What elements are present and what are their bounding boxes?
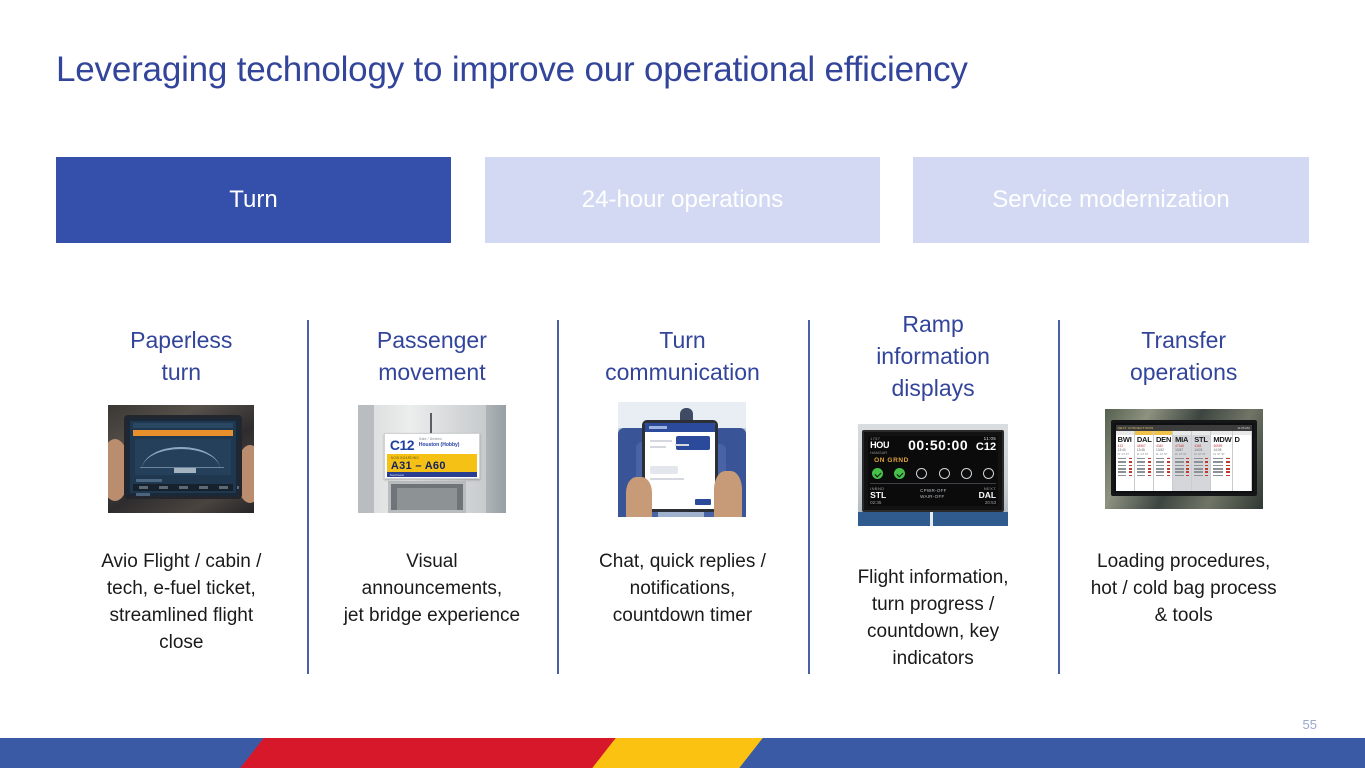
column-heading-transfer-operations: Transfer operations xyxy=(1130,324,1237,388)
connections-monitor-screen: NEXT CONNECTIONS 11:05 AM BWI 433 13:40 xyxy=(1116,425,1252,491)
progress-dot-complete xyxy=(894,468,905,479)
connection-row xyxy=(1137,474,1151,477)
chat-line xyxy=(650,478,684,480)
connection-column: BWI 433 13:40 FL GT ST xyxy=(1116,431,1135,491)
col-header-st: ST xyxy=(1164,453,1167,456)
column-transfer-operations: Transfer operations NEXT CONNECTIONS 11:… xyxy=(1058,312,1309,674)
connection-rows xyxy=(1211,456,1231,477)
ramp-gate-label: HANGAR xyxy=(870,450,889,455)
gate-sign-board: C12 Gate / Destino Houston (Hobby) NOW B… xyxy=(384,433,480,479)
tablet-device xyxy=(124,415,242,499)
progress-dot-pending xyxy=(983,468,994,479)
connection-station-code: MIA xyxy=(1173,435,1191,444)
hand-right xyxy=(714,471,742,517)
column-turn-communication: Turn communication xyxy=(557,312,808,674)
connection-column: DEN 4340 13:52 FL GT ST xyxy=(1154,431,1173,491)
connection-station-code: STL xyxy=(1192,435,1210,444)
col-header-st: ST xyxy=(1202,453,1205,456)
chat-line xyxy=(675,444,689,446)
ramp-countdown-timer: 00:50:00 xyxy=(908,437,968,453)
connection-rows xyxy=(1135,456,1153,477)
col-header-fl: FL xyxy=(1213,453,1216,456)
progress-dot-pending xyxy=(939,468,950,479)
connection-row xyxy=(1175,474,1189,477)
app-toolbar xyxy=(133,423,233,428)
page-number: 55 xyxy=(1303,717,1317,732)
ramp-time-gate-block: 11:05 C12 xyxy=(976,436,996,453)
connections-columns: BWI 433 13:40 FL GT ST xyxy=(1116,431,1252,491)
tablet-chat-cabin-photo xyxy=(618,402,746,517)
stripe-segment-blue-right xyxy=(739,738,1365,768)
col-header-gt: GT xyxy=(1121,453,1124,456)
connection-rows xyxy=(1173,456,1191,477)
connection-station-code: DEN xyxy=(1154,435,1172,444)
ramp-gate-number: C12 xyxy=(976,441,996,453)
connections-monitor: NEXT CONNECTIONS 11:05 AM BWI 433 13:40 xyxy=(1111,420,1257,496)
ramp-origin-block: 1757 HOU HANGAR xyxy=(870,436,889,455)
chart-value-label xyxy=(174,468,196,473)
tablet-paperless-turn-photo xyxy=(108,405,254,513)
ramp-monitor: 1757 HOU HANGAR 00:50:00 11:05 C12 ON GR… xyxy=(862,430,1004,512)
transfer-connections-board-photo: NEXT CONNECTIONS 11:05 AM BWI 433 13:40 xyxy=(1105,409,1263,509)
tablet-tabbar xyxy=(133,484,233,491)
progress-dot-pending xyxy=(961,468,972,479)
tablet-device xyxy=(642,420,718,512)
tab-service-modernization[interactable]: Service modernization xyxy=(913,157,1309,243)
ramp-monitor-screen: 1757 HOU HANGAR 00:50:00 11:05 C12 ON GR… xyxy=(868,436,998,506)
connection-row xyxy=(1213,474,1229,477)
stripe-segment-red xyxy=(240,738,623,768)
col-header-st: ST xyxy=(1222,453,1225,456)
column-heading-turn-communication: Turn communication xyxy=(605,324,760,388)
thumb-wrap-passenger-movement: C12 Gate / Destino Houston (Hobby) NOW B… xyxy=(358,394,506,524)
app-orange-banner xyxy=(133,430,233,436)
gate-destination-label: Gate / Destino xyxy=(419,437,477,441)
hand-left xyxy=(626,477,652,517)
chat-app-navbar xyxy=(645,423,715,432)
connections-header-time: 11:05 AM xyxy=(1237,426,1249,430)
page-title: Leveraging technology to improve our ope… xyxy=(56,50,968,90)
progress-dot-complete xyxy=(872,468,883,479)
jet-bridge-door xyxy=(388,481,466,513)
column-caption-turn-communication: Chat, quick replies / notifications, cou… xyxy=(593,548,772,629)
ramp-indicator-air: WAIR-OFF xyxy=(920,494,947,500)
thumb-wrap-turn-communication xyxy=(618,394,746,524)
ramp-mid-indicators: CPWR-OFF WAIR-OFF xyxy=(920,488,947,500)
col-header-fl: FL xyxy=(1118,453,1121,456)
ramp-next-time: 20:53 xyxy=(979,500,996,505)
slide-root: Leveraging technology to improve our ope… xyxy=(0,0,1365,768)
column-caption-ramp-information-displays: Flight information, turn progress / coun… xyxy=(852,564,1015,672)
chat-send-button[interactable] xyxy=(695,499,711,505)
connection-station-code: BWI xyxy=(1116,435,1134,444)
thumb-wrap-ramp-information-displays: 1757 HOU HANGAR 00:50:00 11:05 C12 ON GR… xyxy=(858,410,1008,540)
col-header-gt: GT xyxy=(1198,453,1201,456)
ramp-status-badge: ON GRND xyxy=(874,457,909,464)
thumb-wrap-transfer-operations: NEXT CONNECTIONS 11:05 AM BWI 433 13:40 xyxy=(1105,394,1263,524)
stripe-segment-blue-left xyxy=(0,738,272,768)
brand-stripe xyxy=(0,738,1365,768)
gate-destination: Gate / Destino Houston (Hobby) xyxy=(419,437,477,448)
chat-line xyxy=(650,440,672,442)
ramp-inbound-time: 02:35 xyxy=(870,500,886,505)
ramp-inbound-block: INBND STL 02:35 xyxy=(870,486,886,505)
ramp-next-block: NEXT DAL 20:53 xyxy=(979,486,996,505)
wall-pillar-left xyxy=(358,405,374,513)
connection-rows xyxy=(1116,456,1134,477)
column-paperless-turn: Paperless turn xyxy=(56,312,307,674)
ramp-origin-code: HOU xyxy=(870,441,889,450)
col-header-gt: GT xyxy=(1141,453,1144,456)
thumb-wrap-paperless-turn xyxy=(108,394,254,524)
tab-turn[interactable]: Turn xyxy=(56,157,451,243)
column-caption-transfer-operations: Loading procedures, hot / cold bag proce… xyxy=(1085,548,1283,629)
column-heading-passenger-movement: Passenger movement xyxy=(377,324,487,388)
detail-line xyxy=(136,479,162,482)
col-header-fl: FL xyxy=(1137,453,1140,456)
column-passenger-movement: Passenger movement C12 Gate / Destino Ho… xyxy=(307,312,558,674)
tablet-screen xyxy=(130,421,236,493)
gate-destination-name: Houston (Hobby) xyxy=(419,442,477,448)
ramp-progress-dots xyxy=(872,467,994,479)
tab-24-hour-operations-label: 24-hour operations xyxy=(582,186,783,214)
tab-turn-label: Turn xyxy=(229,186,277,214)
connection-station-code: D xyxy=(1233,435,1251,444)
gate-sign-photo: C12 Gate / Destino Houston (Hobby) NOW B… xyxy=(358,405,506,513)
detail-line xyxy=(136,493,150,496)
connection-rows xyxy=(1192,456,1210,477)
connection-station-code: DAL xyxy=(1135,435,1153,444)
tab-bar: Turn 24-hour operations Service moderniz… xyxy=(56,157,1309,243)
connection-column: MDW 46959 14:05 FL GT ST xyxy=(1211,431,1232,491)
connection-rows xyxy=(1154,456,1172,477)
col-header-gt: GT xyxy=(1179,453,1182,456)
ramp-next-station: DAL xyxy=(979,491,996,500)
connection-column: DAL 44967 13:45 FL GT ST xyxy=(1135,431,1154,491)
connection-column: MIA 47346 13:57 FL GT ST xyxy=(1173,431,1192,491)
col-header-gt: GT xyxy=(1160,453,1163,456)
sign-mount-rod xyxy=(430,413,432,433)
chat-app-body xyxy=(645,432,715,509)
col-header-fl: FL xyxy=(1175,453,1178,456)
seat-range: A31 – A60 xyxy=(391,460,446,472)
col-header-st: ST xyxy=(1145,453,1148,456)
wall-pillar-right xyxy=(486,405,506,513)
connection-row xyxy=(1118,474,1132,477)
column-caption-paperless-turn: Avio Flight / cabin / tech, e-fuel ticke… xyxy=(95,548,267,656)
connections-header-title: NEXT CONNECTIONS xyxy=(1118,426,1154,430)
column-heading-paperless-turn: Paperless turn xyxy=(130,324,232,388)
column-ramp-information-displays: Ramp information displays 1757 HOU HANGA… xyxy=(808,312,1059,674)
connection-column: STL 4348 14:03 FL GT ST xyxy=(1192,431,1211,491)
feature-columns: Paperless turn xyxy=(56,312,1309,674)
connection-station-code: MDW xyxy=(1211,435,1231,444)
chat-bubble-outgoing xyxy=(676,436,710,450)
boarding-band: NOW BOARDING A31 – A60 xyxy=(387,454,477,473)
col-header-fl: FL xyxy=(1194,453,1197,456)
gate-number: C12 xyxy=(390,437,414,453)
gate-sign-footer: Southwest xyxy=(387,472,477,477)
col-header-fl: FL xyxy=(1156,453,1159,456)
ramp-divider xyxy=(870,483,996,484)
progress-dot-pending xyxy=(916,468,927,479)
ramp-information-display-photo: 1757 HOU HANGAR 00:50:00 11:05 C12 ON GR… xyxy=(858,424,1008,526)
connection-row xyxy=(1156,474,1170,477)
column-caption-passenger-movement: Visual announcements, jet bridge experie… xyxy=(338,548,526,629)
column-heading-ramp-information-displays: Ramp information displays xyxy=(876,308,990,404)
chat-bubble-incoming xyxy=(650,466,678,474)
tab-24-hour-operations[interactable]: 24-hour operations xyxy=(485,157,880,243)
photo-foreground-bar xyxy=(858,512,1008,526)
gate-sign-footer-label: Southwest xyxy=(390,473,404,477)
chat-line xyxy=(650,446,666,448)
col-header-gt: GT xyxy=(1217,453,1220,456)
ramp-inbound-station: STL xyxy=(870,491,886,500)
connection-column-partial: D xyxy=(1233,431,1252,491)
col-header-st: ST xyxy=(1183,453,1186,456)
tab-service-modernization-label: Service modernization xyxy=(992,186,1229,214)
col-header-st: ST xyxy=(1126,453,1129,456)
connection-row xyxy=(1194,474,1208,477)
